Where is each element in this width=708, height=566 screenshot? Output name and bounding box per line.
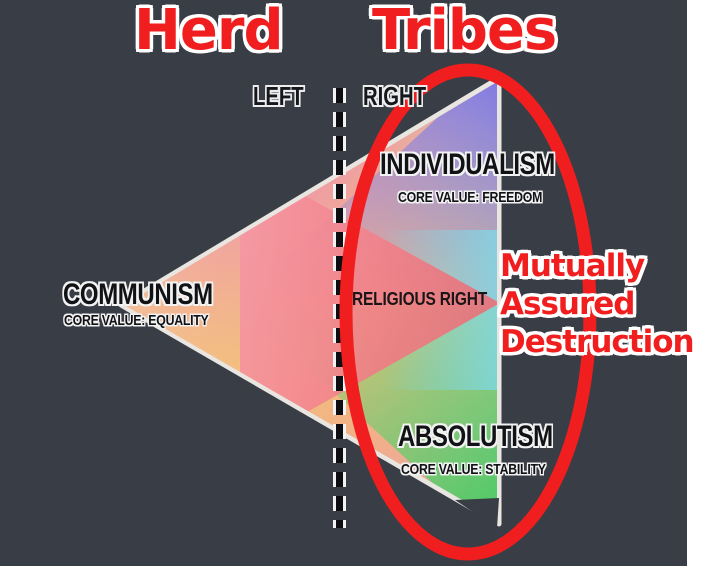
triangle-fill-group [120,60,510,545]
political-spectrum-diagram [0,0,708,566]
screenshot-canvas: LEFT RIGHT COMMUNISM CORE VALUE: EQUALIT… [0,0,708,566]
triangle-bottom-notch [455,498,499,528]
